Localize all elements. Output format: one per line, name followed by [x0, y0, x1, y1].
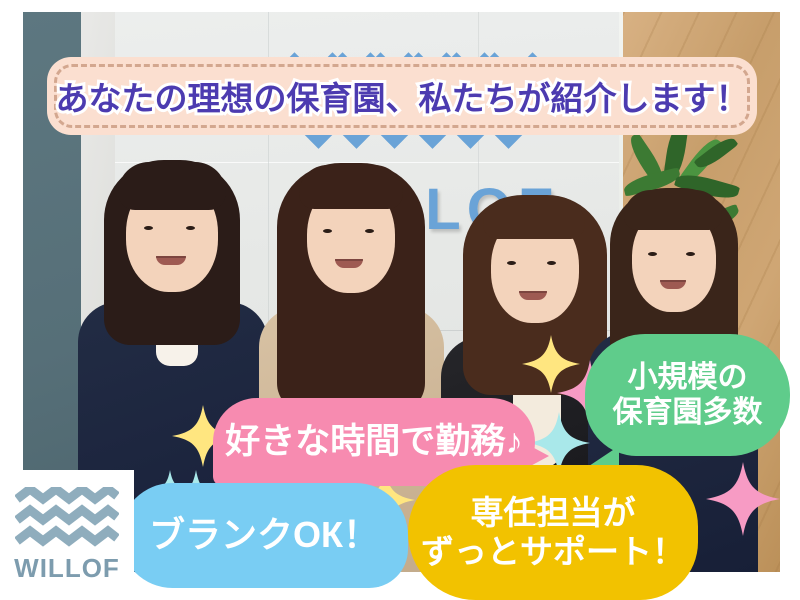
bubble-tail	[589, 446, 619, 466]
poster-root: WILLOF	[0, 0, 800, 600]
bubble-blue-text: ブランクОК！	[149, 514, 379, 556]
headline-banner: あなたの理想の保育園、私たちが紹介します！	[47, 57, 757, 135]
headline-text: あなたの理想の保育園、私たちが紹介します！	[56, 72, 749, 120]
bubble-yellow-line1: 専任担当が	[421, 494, 685, 533]
willof-logo-text: WILLOF	[14, 553, 120, 584]
bubble-green-line1: 小規模の	[613, 360, 763, 395]
bubble-blank-ok: ブランクОК！	[120, 483, 408, 588]
bubble-yellow-line2: ずっとサポート！	[421, 533, 685, 572]
sparkle-icon	[706, 462, 780, 536]
bubble-small-nurseries: 小規模の 保育園多数	[585, 334, 790, 456]
bubble-dedicated-support: 専任担当が ずっとサポート！	[408, 465, 698, 600]
bubble-green-line2: 保育園多数	[613, 395, 763, 430]
bubble-pink-text: 好きな時間で勤務♪	[225, 421, 523, 462]
willof-wave-icon	[15, 487, 119, 549]
willof-logo-card: WILLOF	[0, 470, 134, 600]
